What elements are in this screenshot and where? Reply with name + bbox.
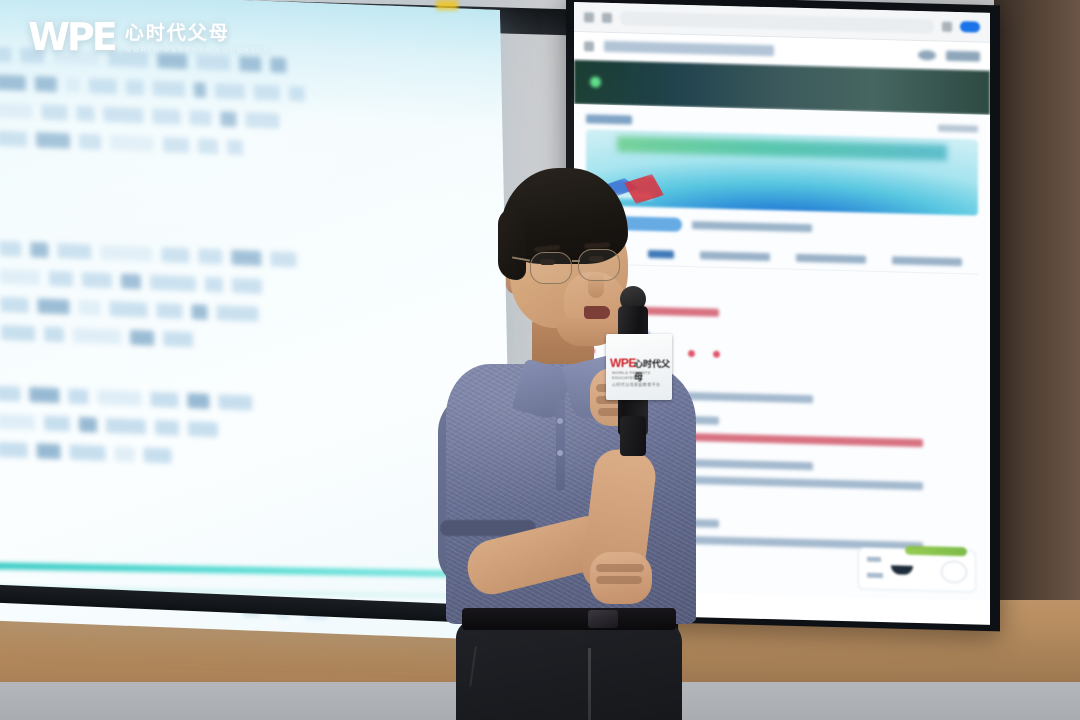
lens-left xyxy=(530,252,572,284)
text-line xyxy=(0,241,469,274)
text-line xyxy=(1,325,471,358)
bookmark-icon[interactable] xyxy=(942,21,952,31)
widget-swoosh-icon xyxy=(891,565,913,575)
text-line xyxy=(0,103,467,136)
mic-flag-brand: WPE xyxy=(610,356,636,370)
action-description xyxy=(692,221,812,232)
widget-label xyxy=(867,557,881,562)
logo-red-shape-icon xyxy=(624,174,664,204)
text-line xyxy=(0,269,470,302)
search-icon[interactable] xyxy=(918,50,936,60)
watermark-brand: WPE xyxy=(28,20,115,54)
status-dot-icon xyxy=(590,76,601,87)
shirt-placket xyxy=(556,400,565,490)
handheld-microphone[interactable]: WPE 心时代父母 WORLD PARENTS EDUCATES 心时代父母家庭… xyxy=(598,286,684,456)
dark-wall-right xyxy=(994,0,1080,600)
belt xyxy=(462,608,676,630)
text-line xyxy=(0,297,470,330)
belt-buckle xyxy=(588,610,618,628)
site-title xyxy=(604,41,774,56)
lens-right xyxy=(578,249,620,281)
search-label[interactable] xyxy=(946,50,980,61)
trouser-pocket xyxy=(469,646,500,689)
text-line xyxy=(0,75,466,108)
text-line xyxy=(0,414,437,446)
mic-flag-subtitle-cn: 心时代父母家庭教育平台 xyxy=(612,382,660,388)
floating-info-widget[interactable] xyxy=(858,547,976,592)
left-screen-paragraph-1 xyxy=(0,47,467,177)
widget-accent-bar xyxy=(905,546,967,557)
tab-item[interactable] xyxy=(796,254,866,264)
left-presentation-screen xyxy=(0,0,513,641)
presentation-photo-stage: WPE 心时代父母 WORLD PARENTS EDUCATES 心时代父母家庭… xyxy=(0,0,1080,720)
microphone-grip xyxy=(620,416,646,456)
account-toggle-icon[interactable] xyxy=(960,21,980,33)
watermark-subtitle: WORLD PARENTS EDUCATES xyxy=(125,47,271,54)
star-icon[interactable] xyxy=(713,351,720,358)
section-label xyxy=(586,114,632,124)
trouser-crease xyxy=(588,648,591,720)
widget-value xyxy=(867,573,883,578)
forward-arrow-icon[interactable] xyxy=(602,12,612,22)
shirt-button xyxy=(557,450,563,456)
text-line xyxy=(0,442,438,474)
left-screen-paragraph-3 xyxy=(0,386,438,487)
text-line xyxy=(0,131,467,164)
glasses-bridge xyxy=(572,260,580,262)
hero-gradient-band xyxy=(617,136,946,161)
tab-item[interactable] xyxy=(700,251,770,261)
section-meta xyxy=(938,125,978,133)
slide-accent-line xyxy=(0,562,513,579)
shirt-button xyxy=(557,418,563,424)
back-arrow-icon[interactable] xyxy=(584,12,594,22)
left-screen-paragraph-2 xyxy=(0,241,471,371)
eyeglasses-icon xyxy=(524,246,634,280)
tab-item[interactable] xyxy=(892,256,962,266)
text-line xyxy=(0,386,436,418)
watermark-chinese: 心时代父母 xyxy=(125,18,271,45)
menu-icon[interactable] xyxy=(584,41,594,51)
widget-circle-icon xyxy=(941,561,967,584)
wpe-watermark: WPE 心时代父母 WORLD PARENTS EDUCATES xyxy=(28,18,270,54)
mic-flag-subtitle-en: WORLD PARENTS EDUCATES xyxy=(612,370,672,380)
address-bar-input[interactable] xyxy=(620,11,934,33)
microphone-flag: WPE 心时代父母 WORLD PARENTS EDUCATES 心时代父母家庭… xyxy=(606,334,672,400)
finger xyxy=(596,564,644,572)
hair-sideburn xyxy=(498,208,526,280)
finger xyxy=(596,576,642,584)
yellow-marker-icon xyxy=(436,0,458,10)
speaker-figure: WPE 心时代父母 WORLD PARENTS EDUCATES 心时代父母家庭… xyxy=(438,168,706,720)
